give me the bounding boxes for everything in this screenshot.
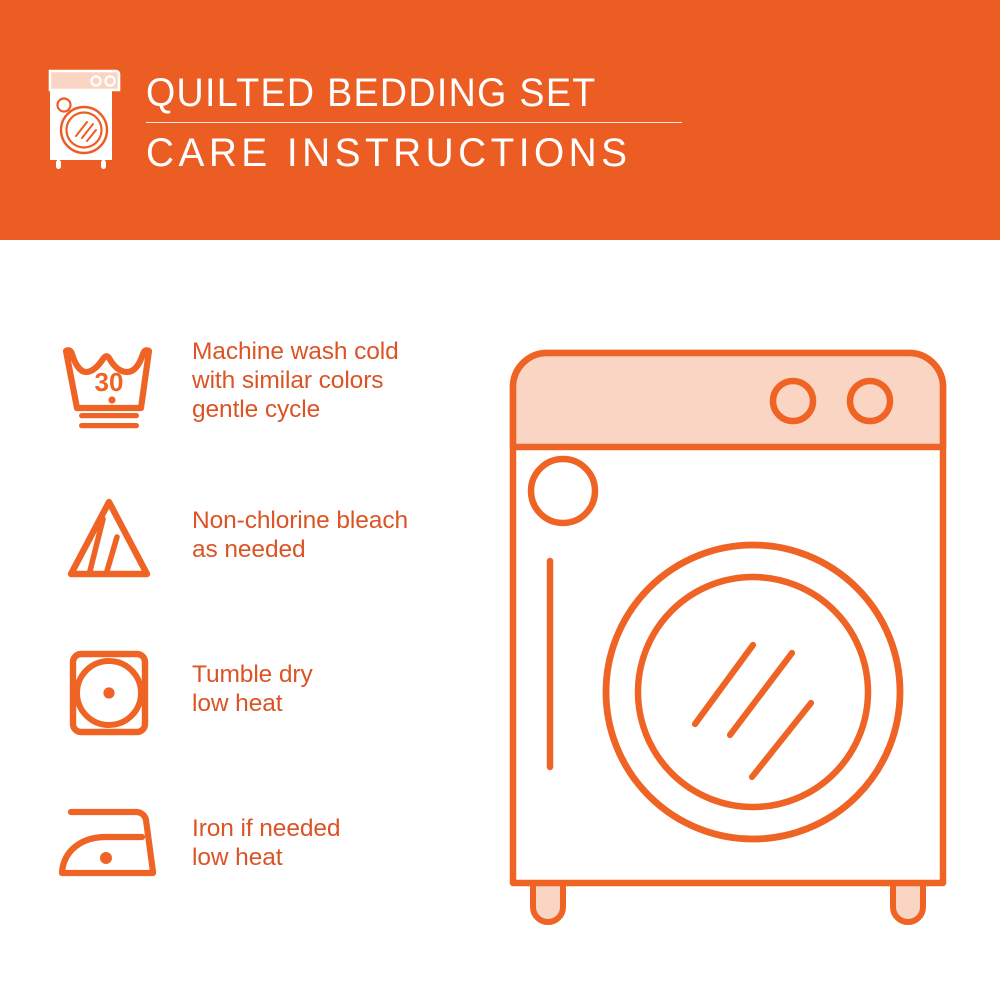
care-instruction-label: Non-chlorine bleach as needed (192, 488, 408, 564)
machine-wash-30-gentle-icon: 30 (44, 335, 174, 440)
care-instruction-item: Tumble dry low heat (44, 640, 474, 745)
knob-left (773, 381, 813, 421)
care-instruction-item: Iron if needed low heat (44, 792, 474, 892)
knob-right (850, 381, 890, 421)
care-instruction-item: Non-chlorine bleach as needed (44, 488, 474, 588)
title-divider (146, 122, 682, 123)
care-instruction-label: Tumble dry low heat (192, 640, 313, 718)
iron-low-heat-icon (44, 792, 174, 892)
header-banner: QUILTED BEDDING SET CARE INSTRUCTIONS (0, 0, 1000, 240)
non-chlorine-bleach-triangle-icon (44, 488, 174, 588)
care-instruction-label: Machine wash cold with similar colors ge… (192, 335, 399, 424)
content-area: 30 Machine wash cold with similar colors… (0, 240, 1000, 1000)
page-subtitle: CARE INSTRUCTIONS (146, 130, 689, 176)
tumble-dry-low-heat-icon (44, 640, 174, 745)
washing-machine-icon (44, 68, 122, 172)
care-instruction-label: Iron if needed low heat (192, 792, 340, 872)
front-load-washing-machine-illustration (495, 335, 965, 935)
care-instruction-list: 30 Machine wash cold with similar colors… (0, 240, 480, 1000)
svg-text:30: 30 (95, 367, 124, 397)
header-title-block: QUILTED BEDDING SET CARE INSTRUCTIONS (146, 70, 706, 176)
care-instruction-item: 30 Machine wash cold with similar colors… (44, 335, 474, 440)
page-title: QUILTED BEDDING SET (146, 70, 672, 116)
